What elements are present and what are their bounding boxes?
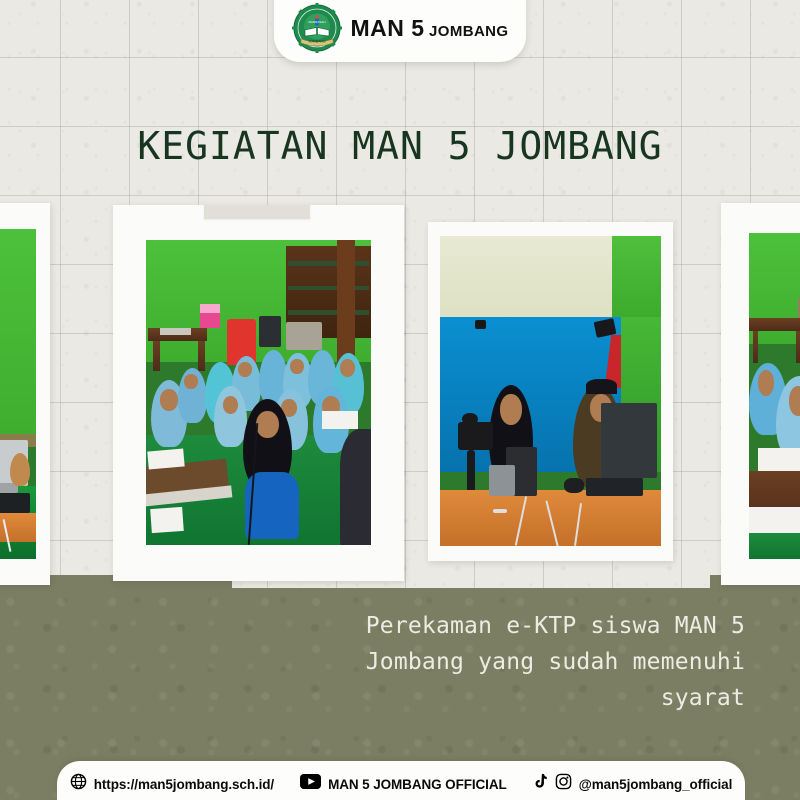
- photo-classroom-students-image: [146, 240, 371, 545]
- instagram-icon: [555, 773, 572, 795]
- activity-caption: Perekaman e-KTP siswa MAN 5 Jombang yang…: [270, 608, 745, 716]
- tiktok-icon: [533, 773, 548, 795]
- svg-text:JOMBANG: JOMBANG: [308, 40, 326, 44]
- footer-social[interactable]: @man5jombang_official: [533, 773, 733, 795]
- footer-website-label: https://man5jombang.sch.id/: [94, 777, 274, 792]
- photo-classroom-students: [113, 205, 404, 581]
- svg-text:MADRASAH: MADRASAH: [308, 20, 325, 24]
- photo-partial-left: [0, 203, 50, 585]
- header-brand-tab: JOMBANG MADRASAH MAN 5 JOMBANG: [274, 0, 526, 62]
- photo-partial-right: [721, 203, 800, 585]
- photo-ektp-recording-image: [440, 236, 661, 546]
- man5-school-crest-icon: JOMBANG MADRASAH: [292, 3, 342, 53]
- youtube-icon: [300, 774, 321, 794]
- tape-strip-center: [204, 205, 310, 219]
- page-title: KEGIATAN MAN 5 JOMBANG: [0, 124, 800, 168]
- photo-partial-right-image: [749, 233, 800, 559]
- photo-partial-left-image: [0, 229, 36, 559]
- poster-canvas: JOMBANG MADRASAH MAN 5 JOMBANG KEGIATAN …: [0, 0, 800, 800]
- footer-contact-bar: https://man5jombang.sch.id/ MAN 5 JOMBAN…: [57, 761, 745, 800]
- brand-title-line1: MAN 5: [351, 15, 425, 41]
- globe-icon: [70, 773, 87, 795]
- footer-social-label: @man5jombang_official: [579, 777, 733, 792]
- footer-youtube[interactable]: MAN 5 JOMBANG OFFICIAL: [300, 774, 507, 794]
- footer-website[interactable]: https://man5jombang.sch.id/: [70, 773, 274, 795]
- footer-youtube-label: MAN 5 JOMBANG OFFICIAL: [328, 777, 507, 792]
- brand-title-line2: JOMBANG: [429, 23, 508, 40]
- photo-ektp-recording: [428, 222, 673, 561]
